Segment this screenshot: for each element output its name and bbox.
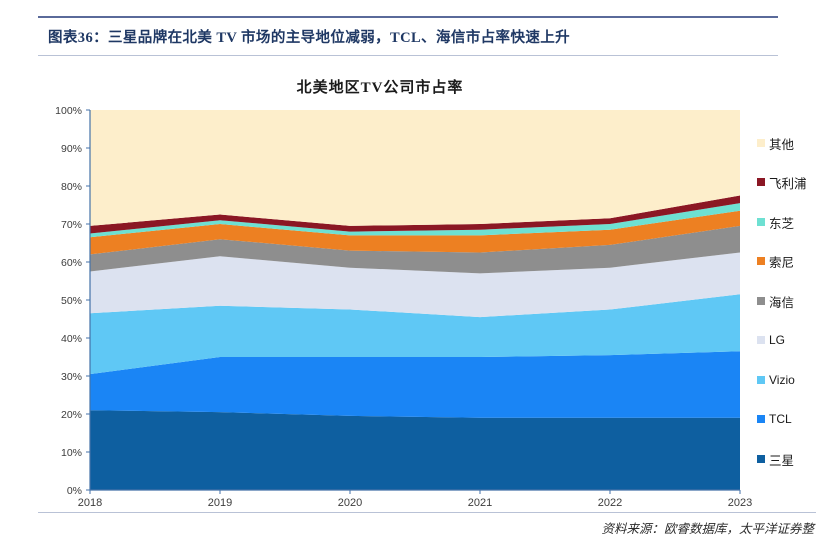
y-axis-label: 100% bbox=[55, 105, 82, 117]
y-axis-label: 50% bbox=[61, 295, 82, 307]
x-axis-label: 2022 bbox=[598, 497, 622, 509]
x-axis-label: 2021 bbox=[468, 497, 492, 509]
legend-swatch-icon bbox=[757, 139, 765, 147]
legend-swatch-icon bbox=[757, 415, 765, 423]
y-axis-label: 90% bbox=[61, 143, 82, 155]
legend-item-label: 索尼 bbox=[769, 252, 794, 271]
x-axis-label: 2023 bbox=[728, 497, 752, 509]
legend-item-label: 飞利浦 bbox=[769, 173, 807, 192]
source-note: 资料来源：欧睿数据库，太平洋证券整 bbox=[0, 518, 816, 537]
legend-swatch-icon bbox=[757, 257, 765, 265]
y-axis-label: 70% bbox=[61, 219, 82, 231]
area-series bbox=[90, 110, 740, 226]
x-axis-label: 2020 bbox=[338, 497, 362, 509]
y-axis-label: 10% bbox=[61, 447, 82, 459]
area-series bbox=[90, 410, 740, 490]
legend-item-label: TCL bbox=[769, 412, 792, 426]
legend-item[interactable]: LG bbox=[757, 333, 785, 347]
legend-item-label: 东芝 bbox=[769, 213, 794, 232]
legend-item[interactable]: Vizio bbox=[757, 373, 795, 387]
legend-item[interactable]: 三星 bbox=[757, 452, 794, 466]
legend-item-label: 海信 bbox=[769, 292, 794, 311]
stacked-area-chart: 0%10%20%30%40%50%60%70%80%90%100%2018201… bbox=[0, 0, 816, 552]
legend-swatch-icon bbox=[757, 336, 765, 344]
legend-swatch-icon bbox=[757, 455, 765, 463]
legend-swatch-icon bbox=[757, 178, 765, 186]
y-axis-label: 80% bbox=[61, 181, 82, 193]
legend-swatch-icon bbox=[757, 297, 765, 305]
legend-item-label: Vizio bbox=[769, 373, 795, 387]
legend-item[interactable]: TCL bbox=[757, 412, 792, 426]
legend-swatch-icon bbox=[757, 376, 765, 384]
legend-item-label: LG bbox=[769, 333, 785, 347]
legend-item[interactable]: 其他 bbox=[757, 136, 794, 150]
x-axis-label: 2018 bbox=[78, 497, 102, 509]
legend-item[interactable]: 海信 bbox=[757, 294, 794, 308]
legend-item-label: 三星 bbox=[769, 450, 794, 469]
legend-swatch-icon bbox=[757, 218, 765, 226]
footer-rule bbox=[38, 512, 816, 513]
chart-legend: 其他飞利浦东芝索尼海信LGVizioTCL三星 bbox=[757, 128, 816, 488]
legend-item[interactable]: 飞利浦 bbox=[757, 175, 807, 189]
x-axis-label: 2019 bbox=[208, 497, 232, 509]
y-axis-label: 0% bbox=[67, 485, 82, 497]
y-axis-label: 60% bbox=[61, 257, 82, 269]
legend-item[interactable]: 东芝 bbox=[757, 215, 794, 229]
y-axis-label: 30% bbox=[61, 371, 82, 383]
legend-item-label: 其他 bbox=[769, 134, 794, 153]
legend-item[interactable]: 索尼 bbox=[757, 254, 794, 268]
y-axis-label: 40% bbox=[61, 333, 82, 345]
y-axis-label: 20% bbox=[61, 409, 82, 421]
